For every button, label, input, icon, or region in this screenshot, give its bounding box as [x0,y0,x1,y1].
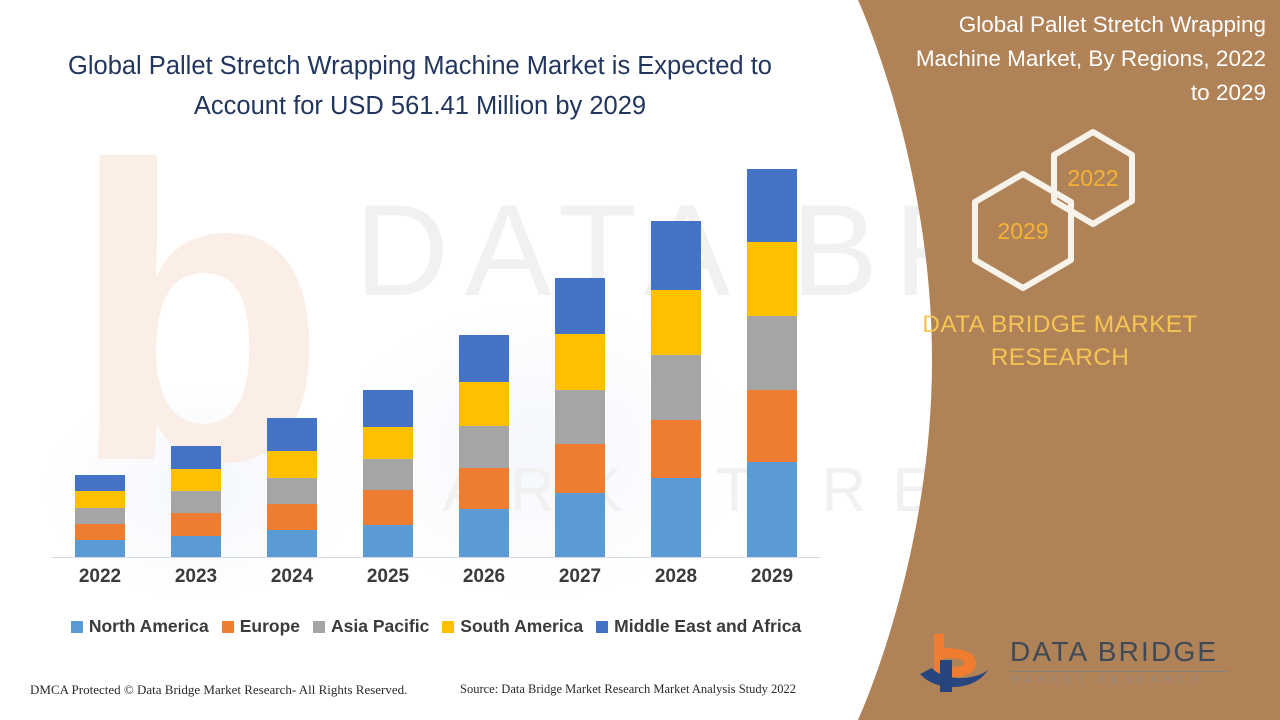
x-axis-label: 2027 [532,566,628,594]
infographic-canvas: b DATA BRIDGE MARKET RESEARCH Global Pal… [0,0,1280,720]
bar-column [724,150,820,557]
bar-segment [267,504,317,530]
bar-segment [747,390,797,462]
hexagon-group: 2029 2022 [840,128,1280,298]
footer-source: Source: Data Bridge Market Research Mark… [460,682,796,697]
stacked-bar [651,221,701,557]
bar-segment [747,316,797,390]
legend-label: North America [89,616,209,637]
legend-item[interactable]: Middle East and Africa [596,616,801,637]
bar-column [52,150,148,557]
bar-segment [75,475,125,492]
stacked-bar [363,390,413,557]
footer-copyright: DMCA Protected © Data Bridge Market Rese… [30,682,407,698]
chart-legend: North AmericaEuropeAsia PacificSouth Ame… [52,616,820,637]
stacked-bar [747,169,797,557]
legend-swatch-icon [71,621,83,633]
panel-brand-name: DATA BRIDGE MARKET RESEARCH [840,308,1280,374]
legend-label: Asia Pacific [331,616,429,637]
logo-text: DATA BRIDGE MARKET RESEARCH [1010,636,1228,686]
bar-segment [651,420,701,477]
bar-segment [75,524,125,541]
x-axis-line [52,557,820,558]
legend-swatch-icon [442,621,454,633]
hexagon-2022-label: 2022 [1067,165,1118,192]
data-bridge-logo: DATA BRIDGE MARKET RESEARCH [918,628,1248,700]
bar-segment [555,390,605,444]
legend-label: Europe [240,616,300,637]
x-axis-label: 2029 [724,566,820,594]
bar-segment [267,451,317,478]
logo-b-swoosh-icon [918,630,996,696]
bar-segment [75,540,125,557]
bar-segment [75,508,125,524]
bar-segment [651,478,701,557]
bar-column [436,150,532,557]
page-title: Global Pallet Stretch Wrapping Machine M… [50,46,790,126]
bar-column [148,150,244,557]
right-panel-content: Global Pallet Stretch Wrapping Machine M… [840,0,1280,720]
bar-segment [747,462,797,557]
logo-mark-icon [918,630,996,696]
x-axis-label: 2023 [148,566,244,594]
legend-swatch-icon [222,621,234,633]
bar-segment [555,278,605,333]
stacked-bar [75,475,125,557]
stacked-bar [171,446,221,557]
legend-item[interactable]: North America [71,616,209,637]
bar-segment [747,242,797,316]
legend-swatch-icon [313,621,325,633]
bar-segment [651,355,701,421]
bar-segment [459,335,509,382]
x-axis-tick-labels: 20222023202420252026202720282029 [52,566,820,594]
hexagon-2022: 2022 [1048,128,1138,228]
legend-label: South America [460,616,583,637]
bar-segment [267,418,317,450]
bar-segment [651,290,701,355]
logo-name: DATA BRIDGE [1010,636,1228,668]
logo-subtitle: MARKET RESEARCH [1010,674,1228,686]
bar-segment [459,468,509,509]
legend-label: Middle East and Africa [614,616,801,637]
bar-column [340,150,436,557]
bar-segment [363,390,413,427]
stacked-bar-chart [52,150,820,558]
bar-column [532,150,628,557]
bar-segment [363,490,413,524]
panel-title: Global Pallet Stretch Wrapping Machine M… [906,8,1266,110]
bar-segment [171,491,221,513]
bar-segment [555,493,605,557]
bar-column [628,150,724,557]
bar-segment [651,221,701,290]
stacked-bar [555,278,605,557]
legend-item[interactable]: Europe [222,616,300,637]
x-axis-label: 2024 [244,566,340,594]
bar-segment [555,444,605,493]
legend-item[interactable]: Asia Pacific [313,616,429,637]
bar-segment [171,469,221,491]
legend-swatch-icon [596,621,608,633]
bar-segment [459,382,509,426]
bar-segment [171,513,221,536]
bar-segment [555,334,605,390]
logo-divider [1010,671,1228,672]
bar-segment [363,427,413,459]
legend-item[interactable]: South America [442,616,583,637]
x-axis-label: 2025 [340,566,436,594]
x-axis-label: 2026 [436,566,532,594]
bar-segment [267,478,317,504]
hexagon-2029-label: 2029 [997,218,1048,245]
bar-segment [171,536,221,557]
bar-segment [363,459,413,490]
bar-segment [267,530,317,557]
stacked-bar [267,418,317,557]
bar-segment [459,426,509,469]
bar-segment [747,169,797,242]
footer: DMCA Protected © Data Bridge Market Rese… [0,682,860,712]
x-axis-label: 2028 [628,566,724,594]
bar-column [244,150,340,557]
bar-segment [75,491,125,508]
bar-segment [459,509,509,557]
bar-segment [363,525,413,557]
bar-group [52,150,820,557]
x-axis-label: 2022 [52,566,148,594]
bar-segment [171,446,221,469]
stacked-bar [459,335,509,557]
